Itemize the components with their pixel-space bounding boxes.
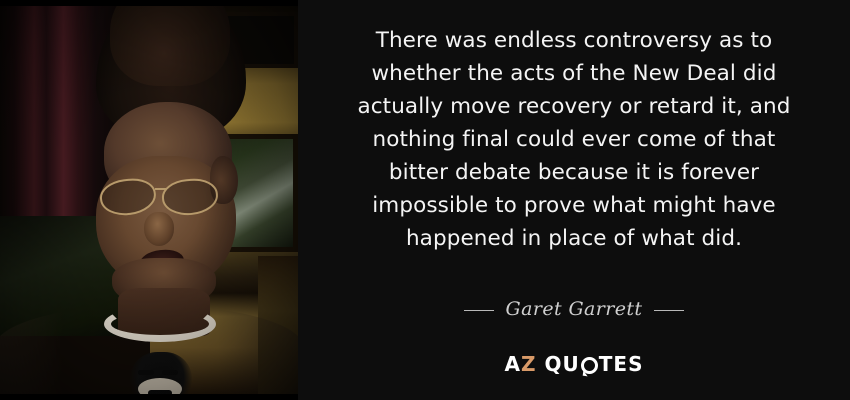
quote-panel: There was endless controversy as to whet… <box>298 0 850 400</box>
logo-letter-a: A <box>505 352 521 376</box>
quote-line: actually move recovery or retard it, and <box>322 90 826 123</box>
logo-wordmark: AZQUTES <box>505 352 644 376</box>
photo-bottom-border <box>0 394 298 400</box>
speech-bubble-icon <box>581 357 598 374</box>
author-name[interactable]: Garet Garrett <box>506 298 643 320</box>
quote-line: There was endless controversy as to <box>322 24 826 57</box>
photo-top-border <box>0 0 298 6</box>
quote-line: nothing final could ever come of that <box>322 123 826 156</box>
logo-quotes-suffix: TES <box>599 352 644 376</box>
author-photo-panel <box>0 0 298 400</box>
quote-text: There was endless controversy as to whet… <box>322 24 826 255</box>
portrait-photo <box>0 6 298 394</box>
quote-card: There was endless controversy as to whet… <box>0 0 850 400</box>
attribution: Garet Garrett <box>298 298 850 320</box>
quote-line: whether the acts of the New Deal did <box>322 57 826 90</box>
dash-right-icon <box>654 310 684 311</box>
logo-letter-z: Z <box>521 352 537 376</box>
dash-left-icon <box>464 310 494 311</box>
quote-line: impossible to prove what might have <box>322 189 826 222</box>
quote-line: bitter debate because it is forever <box>322 156 826 189</box>
photo-vignette <box>0 6 298 394</box>
quote-line: happened in place of what did. <box>322 222 826 255</box>
logo-quotes-prefix: QU <box>545 352 580 376</box>
azquotes-logo[interactable]: AZQUTES <box>298 352 850 376</box>
